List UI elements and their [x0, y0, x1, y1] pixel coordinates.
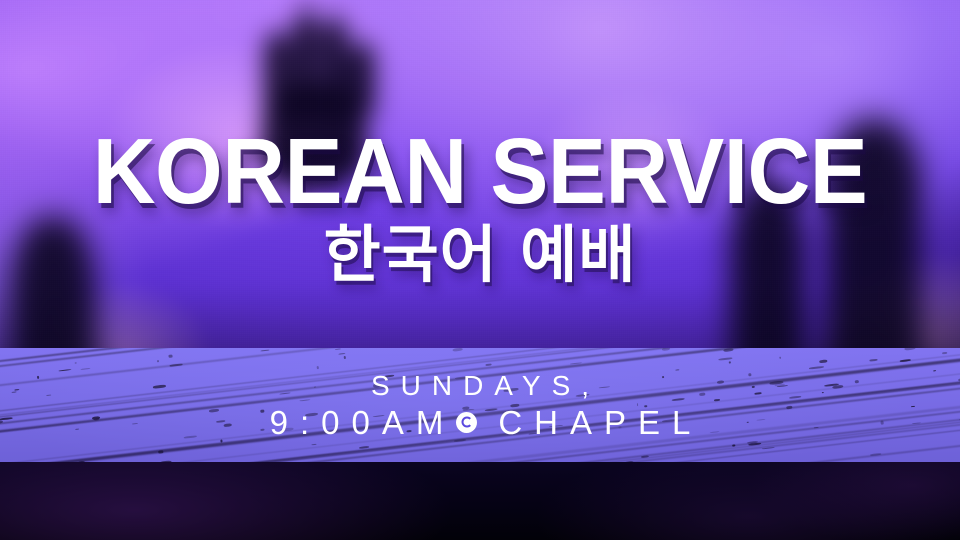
banner-line-day: SUNDAYS, [360, 372, 600, 400]
banner-text: SUNDAYS, 9:00AM CHAPEL [0, 348, 960, 462]
banner-place: CHAPEL [486, 406, 702, 439]
lower-dark-strip [0, 462, 960, 540]
announcement-slide: KOREAN SERVICE 한국어 예배 SUNDAYS, 9:00AM CH… [0, 0, 960, 540]
location-pin-icon [456, 412, 477, 433]
banner-time: 9:00AM [258, 406, 456, 439]
banner-line-time-place: 9:00AM CHAPEL [258, 406, 703, 439]
info-banner: SUNDAYS, 9:00AM CHAPEL [0, 348, 960, 462]
